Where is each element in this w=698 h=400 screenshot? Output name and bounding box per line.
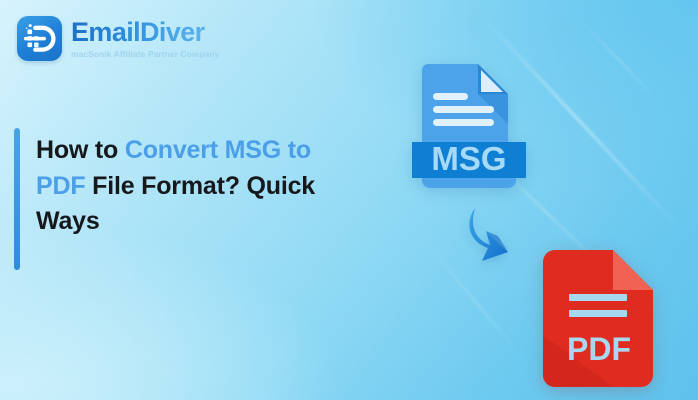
pdf-file-icon: PDF [543, 250, 653, 387]
msg-label: MSG [431, 140, 506, 177]
headline-text-part1: How to [36, 136, 125, 164]
brand-wordmark: EmailDiver macSonik Affiliate Partner Co… [71, 19, 220, 58]
brand-name: EmailDiver [71, 19, 220, 46]
brand-tagline: macSonik Affiliate Partner Company [71, 50, 220, 58]
page-title: How to Convert MSG to PDF File Format? Q… [36, 128, 336, 270]
emaildiver-logo-icon [17, 16, 62, 61]
msg-file-icon: MSG [408, 60, 530, 192]
headline-accent-bar [14, 128, 20, 270]
light-streak [578, 17, 663, 104]
pdf-label: PDF [567, 331, 631, 367]
brand-logo[interactable]: EmailDiver macSonik Affiliate Partner Co… [17, 16, 220, 61]
curved-arrow-down-right-icon [468, 205, 538, 267]
headline-block: How to Convert MSG to PDF File Format? Q… [14, 128, 336, 270]
